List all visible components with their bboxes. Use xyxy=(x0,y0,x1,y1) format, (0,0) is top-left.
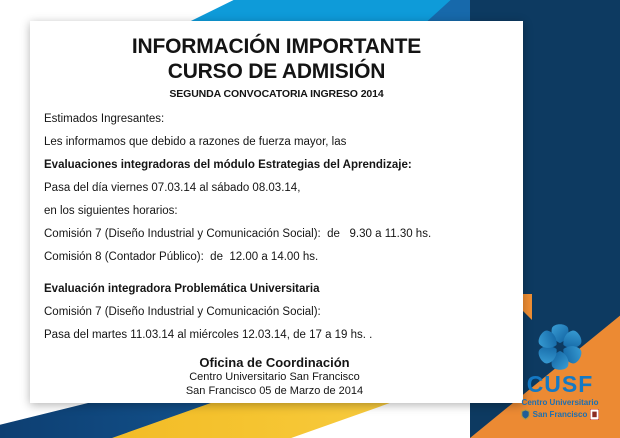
body-text: Estimados Ingresantes: Les informamos qu… xyxy=(44,113,499,342)
logo-subtitle-line-2: San Francisco xyxy=(533,410,588,420)
body-paragraph-heading: Evaluaciones integradoras del módulo Est… xyxy=(44,159,499,171)
body-paragraph: Comisión 7 (Diseño Industrial y Comunica… xyxy=(44,228,499,240)
logo-subtitle-line-2-row: San Francisco xyxy=(508,409,612,420)
shield-crest-icon xyxy=(590,409,599,420)
content-card: INFORMACIÓN IMPORTANTE CURSO DE ADMISIÓN… xyxy=(30,21,523,403)
signature-office: Oficina de Coordinación xyxy=(30,355,519,371)
signature-institution: Centro Universitario San Francisco xyxy=(30,371,519,385)
body-paragraph: en los siguientes horarios: xyxy=(44,205,499,217)
body-paragraph: Estimados Ingresantes: xyxy=(44,113,499,125)
body-paragraph: Les informamos que debido a razones de f… xyxy=(44,136,499,148)
signature-block: Oficina de Coordinación Centro Universit… xyxy=(30,355,523,399)
cusf-logo: CUSF Centro Universitario San Francisco xyxy=(508,320,612,420)
announcement-slide: INFORMACIÓN IMPORTANTE CURSO DE ADMISIÓN… xyxy=(0,0,620,438)
flower-petals-icon xyxy=(529,320,591,372)
page-subtitle: SEGUNDA CONVOCATORIA INGRESO 2014 xyxy=(30,88,523,100)
body-paragraph: Pasa del martes 11.03.14 al miércoles 12… xyxy=(44,329,499,341)
shield-crest-icon xyxy=(521,409,530,420)
body-paragraph: Pasa del día viernes 07.03.14 al sábado … xyxy=(44,182,499,194)
page-title-line-1: INFORMACIÓN IMPORTANTE xyxy=(30,35,523,60)
body-paragraph: Comisión 7 (Diseño Industrial y Comunica… xyxy=(44,306,499,318)
body-paragraph: Comisión 8 (Contador Público): de 12.00 … xyxy=(44,251,499,263)
body-paragraph-heading: Evaluación integradora Problemática Univ… xyxy=(44,283,499,295)
title-block: INFORMACIÓN IMPORTANTE CURSO DE ADMISIÓN… xyxy=(30,21,523,100)
logo-wordmark: CUSF xyxy=(508,373,612,396)
signature-place-date: San Francisco 05 de Marzo de 2014 xyxy=(30,385,519,399)
page-title-line-2: CURSO DE ADMISIÓN xyxy=(30,60,523,85)
logo-subtitle-line-1: Centro Universitario xyxy=(508,398,612,408)
